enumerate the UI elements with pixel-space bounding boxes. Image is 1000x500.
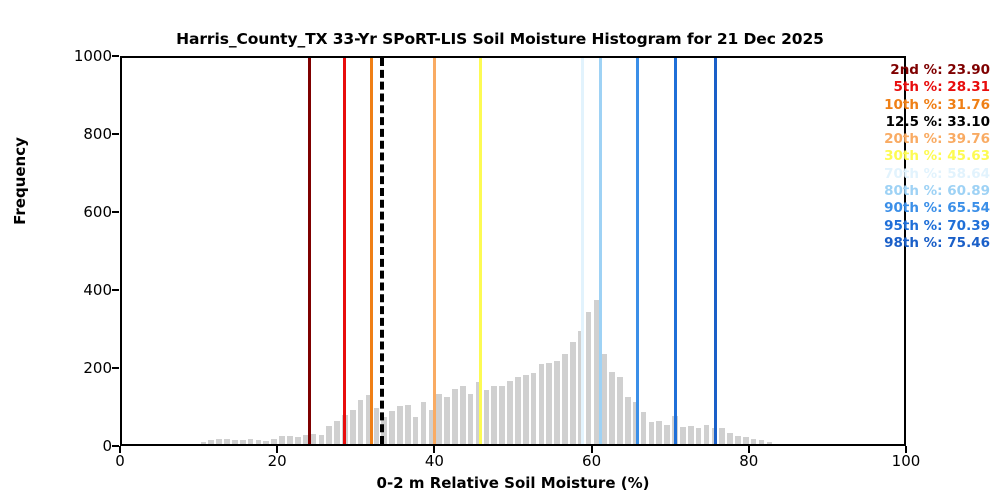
legend-entry-90: 90th %: 65.54 [860, 200, 990, 217]
x-tick-label: 100 [892, 452, 921, 470]
y-tick-mark [112, 367, 119, 369]
x-tick-mark [905, 446, 907, 453]
percentile-line-2 [308, 58, 311, 444]
percentile-line-80 [599, 58, 602, 444]
x-tick-label: 40 [425, 452, 444, 470]
x-tick-mark [276, 446, 278, 453]
x-tick-label: 80 [739, 452, 758, 470]
y-tick-label: 600 [83, 203, 112, 221]
y-tick-mark [112, 211, 119, 213]
legend-entry-95: 95th %: 70.39 [860, 218, 990, 235]
y-axis-label: Frequency [11, 101, 29, 261]
y-tick-label: 400 [83, 281, 112, 299]
plot-area [120, 56, 906, 446]
y-tick-label: 1000 [74, 47, 112, 65]
x-tick-mark [748, 446, 750, 453]
histogram-figure: Harris_County_TX 33-Yr SPoRT-LIS Soil Mo… [0, 0, 1000, 500]
legend-entry-80: 80th %: 60.89 [860, 183, 990, 200]
y-tick-mark [112, 55, 119, 57]
legend-entry-12-5: 12.5 %: 33.10 [860, 114, 990, 131]
y-tick-mark [112, 445, 119, 447]
percentile-line-95 [674, 58, 677, 444]
percentile-line-98 [714, 58, 717, 444]
x-tick-mark [433, 446, 435, 453]
legend-entry-2: 2nd %: 23.90 [860, 62, 990, 79]
percentile-line-90 [636, 58, 639, 444]
x-tick-mark [119, 446, 121, 453]
percentile-lines [122, 58, 904, 444]
x-axis-label: 0-2 m Relative Soil Moisture (%) [120, 474, 906, 492]
percentile-line-5 [343, 58, 346, 444]
y-tick-label: 800 [83, 125, 112, 143]
x-tick-mark [591, 446, 593, 453]
percentile-line-20 [433, 58, 436, 444]
percentile-line-12-5 [380, 58, 384, 444]
y-tick-mark [112, 133, 119, 135]
x-tick-label: 60 [582, 452, 601, 470]
y-axis-tick-labels: 02004006008001000 [56, 0, 112, 500]
legend-entry-98: 98th %: 75.46 [860, 235, 990, 252]
percentile-line-10 [370, 58, 373, 444]
percentile-line-30 [479, 58, 482, 444]
y-tick-mark [112, 289, 119, 291]
y-tick-label: 0 [102, 437, 112, 455]
percentile-line-70 [581, 58, 584, 444]
x-tick-label: 0 [115, 452, 125, 470]
legend-entry-20: 20th %: 39.76 [860, 131, 990, 148]
percentile-legend: 2nd %: 23.905th %: 28.3110th %: 31.7612.… [860, 62, 990, 252]
y-tick-label: 200 [83, 359, 112, 377]
legend-entry-10: 10th %: 31.76 [860, 97, 990, 114]
x-tick-label: 20 [268, 452, 287, 470]
legend-entry-30: 30th %: 45.63 [860, 148, 990, 165]
legend-entry-5: 5th %: 28.31 [860, 79, 990, 96]
legend-entry-70: 70th %: 58.64 [860, 166, 990, 183]
page-title: Harris_County_TX 33-Yr SPoRT-LIS Soil Mo… [0, 30, 1000, 48]
